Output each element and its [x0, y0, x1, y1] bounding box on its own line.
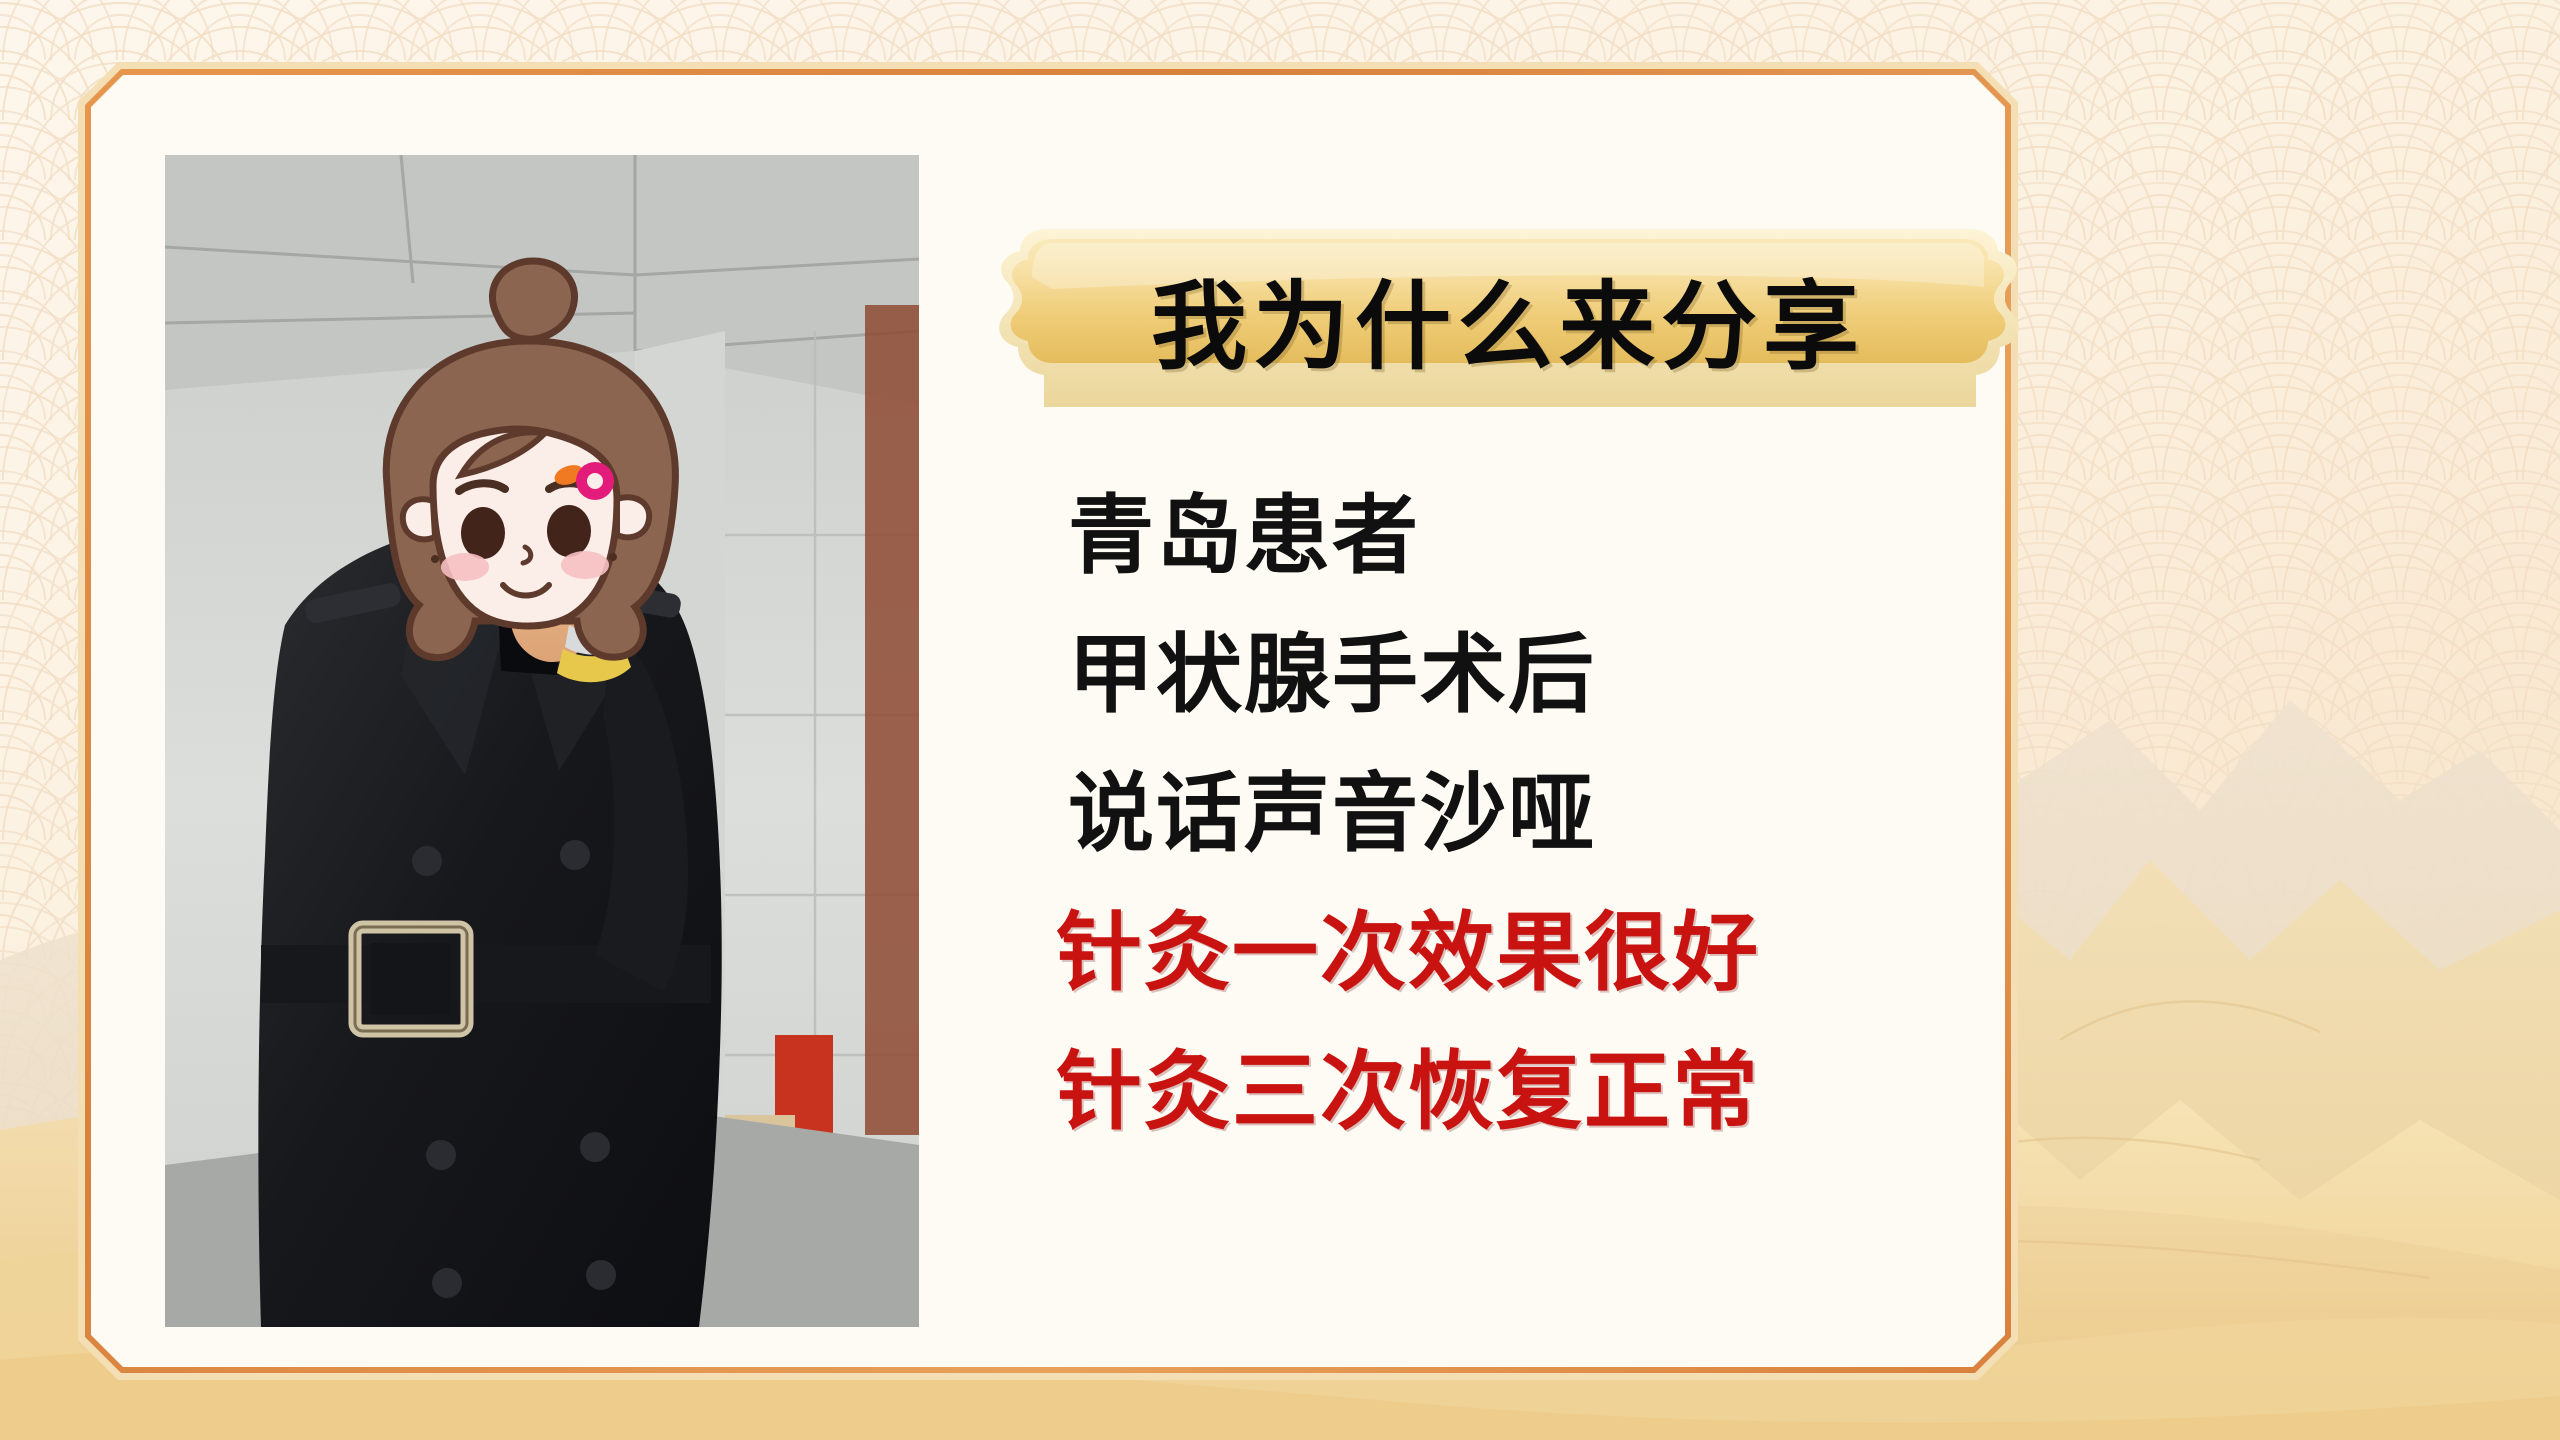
body-line-5-emphasis: 针灸三次恢复正常 — [1056, 1023, 2008, 1162]
body-text-block: 青岛患者 甲状腺手术后 说话声音沙哑 针灸一次效果很好 针灸三次恢复正常 — [1068, 467, 2008, 1162]
body-line-4-emphasis: 针灸一次效果很好 — [1056, 884, 2008, 1023]
body-line-1: 青岛患者 — [1068, 467, 2008, 606]
content-card: 我为什么来分享 青岛患者 甲状腺手术后 说话声音沙哑 针灸一次效果很好 针灸三次… — [78, 62, 2018, 1380]
slide-canvas: 我为什么来分享 青岛患者 甲状腺手术后 说话声音沙哑 针灸一次效果很好 针灸三次… — [0, 0, 2560, 1440]
title-banner: 我为什么来分享 — [990, 225, 2026, 415]
body-line-3: 说话声音沙哑 — [1068, 745, 2008, 884]
banner-title-text: 我为什么来分享 — [990, 225, 2026, 415]
patient-photo — [165, 155, 919, 1327]
body-line-2: 甲状腺手术后 — [1068, 606, 2008, 745]
